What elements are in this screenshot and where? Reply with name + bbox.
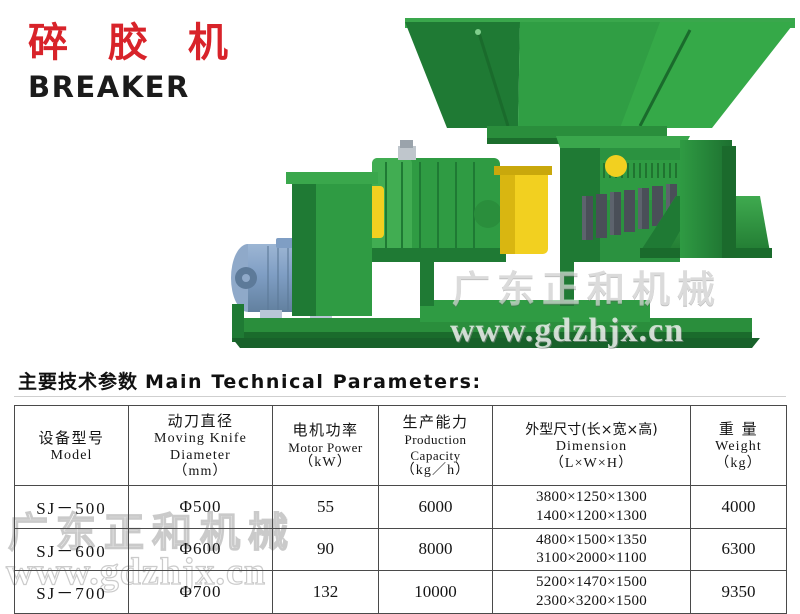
- cell-weight: 4000: [691, 486, 787, 529]
- col-header-capacity-cn: 生产能力: [381, 411, 490, 432]
- col-header-knife-diameter: 动刀直径 Moving Knife Diameter （mm）: [129, 406, 273, 486]
- cell-motor-power: 90: [273, 528, 379, 571]
- col-header-capacity: 生产能力 Production Capacity （kg／h）: [379, 406, 493, 486]
- cell-motor-power: 55: [273, 486, 379, 529]
- cell-dimension-line1: 3800×1250×1300: [495, 488, 688, 507]
- table-header-row: 设备型号 Model 动刀直径 Moving Knife Diameter （m…: [15, 406, 787, 486]
- cell-dimension-line1: 4800×1500×1350: [495, 531, 688, 550]
- title-chinese: 碎 胶 机: [28, 22, 241, 64]
- cell-model: SJ－500: [15, 486, 129, 529]
- col-header-capacity-en: Production Capacity: [381, 432, 490, 463]
- cell-weight: 6300: [691, 528, 787, 571]
- col-header-motor-power-unit: （kW）: [275, 455, 376, 472]
- parameters-heading: 主要技术参数Main Technical Parameters:: [18, 367, 482, 394]
- cell-dimension: 5200×1470×1500 2300×3200×1500: [493, 571, 691, 614]
- col-header-motor-power: 电机功率 Motor Power （kW）: [273, 406, 379, 486]
- cell-dimension-line2: 3100×2000×1100: [495, 549, 688, 568]
- cell-dimension-line1: 5200×1470×1500: [495, 573, 688, 592]
- heading-divider: [14, 396, 786, 397]
- cell-dimension: 4800×1500×1350 3100×2000×1100: [493, 528, 691, 571]
- col-header-weight: 重 量 Weight （kg）: [691, 406, 787, 486]
- right-housing: [680, 140, 736, 258]
- spec-table-container: 设备型号 Model 动刀直径 Moving Knife Diameter （m…: [14, 405, 786, 614]
- col-header-knife-diameter-cn: 动刀直径: [131, 410, 270, 431]
- gearbox: [368, 140, 506, 262]
- table-row: SJ－700 Φ700 132 10000 5200×1470×1500 230…: [15, 571, 787, 614]
- title-english: BREAKER: [28, 70, 241, 104]
- cell-weight: 9350: [691, 571, 787, 614]
- col-header-model: 设备型号 Model: [15, 406, 129, 486]
- col-header-capacity-unit: （kg／h）: [381, 463, 490, 480]
- cell-dimension-line2: 2300×3200×1500: [495, 592, 688, 611]
- col-header-dimension-unit: （L×W×H）: [495, 456, 688, 473]
- cell-knife-diameter: Φ700: [129, 571, 273, 614]
- col-header-weight-en: Weight: [693, 439, 784, 456]
- cell-dimension-line2: 1400×1200×1300: [495, 507, 688, 526]
- page-title: 碎 胶 机 BREAKER: [28, 22, 241, 104]
- cell-dimension: 3800×1250×1300 1400×1200×1300: [493, 486, 691, 529]
- cell-knife-diameter: Φ600: [129, 528, 273, 571]
- cell-capacity: 8000: [379, 528, 493, 571]
- spec-table: 设备型号 Model 动刀直径 Moving Knife Diameter （m…: [14, 405, 787, 614]
- col-header-knife-diameter-en: Moving Knife Diameter: [131, 431, 270, 464]
- col-header-model-en: Model: [17, 448, 126, 465]
- col-header-dimension: 外型尺寸(长×宽×高) Dimension （L×W×H）: [493, 406, 691, 486]
- cell-knife-diameter: Φ500: [129, 486, 273, 529]
- parameters-heading-en: Main Technical Parameters:: [145, 371, 482, 393]
- cell-model: SJ－600: [15, 528, 129, 571]
- col-header-motor-power-en: Motor Power: [275, 440, 376, 455]
- hopper: [405, 18, 795, 144]
- col-header-knife-diameter-unit: （mm）: [131, 464, 270, 481]
- cell-capacity: 6000: [379, 486, 493, 529]
- col-header-weight-unit: （kg）: [693, 456, 784, 473]
- col-header-weight-cn: 重 量: [693, 418, 784, 439]
- col-header-model-cn: 设备型号: [17, 427, 126, 448]
- cell-capacity: 10000: [379, 571, 493, 614]
- col-header-dimension-cn: 外型尺寸(长×宽×高): [495, 419, 688, 439]
- parameters-heading-cn: 主要技术参数: [18, 371, 138, 393]
- table-row: SJ－500 Φ500 55 6000 3800×1250×1300 1400×…: [15, 486, 787, 529]
- col-header-dimension-en: Dimension: [495, 439, 688, 456]
- col-header-motor-power-cn: 电机功率: [275, 419, 376, 440]
- table-row: SJ－600 Φ600 90 8000 4800×1500×1350 3100×…: [15, 528, 787, 571]
- cell-model: SJ－700: [15, 571, 129, 614]
- cell-motor-power: 132: [273, 571, 379, 614]
